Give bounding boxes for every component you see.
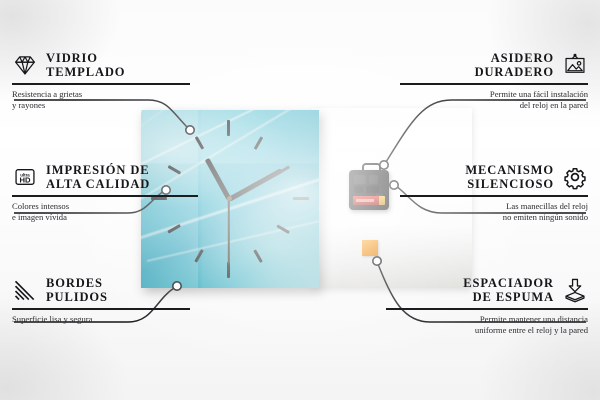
feature-description: Permite una fácil instalación del reloj … xyxy=(400,89,588,111)
feature-title-line-2: ALTA CALIDAD xyxy=(46,177,150,191)
feature-divider xyxy=(400,195,588,197)
feature-title-line-2: TEMPLADO xyxy=(46,65,125,79)
feature-title-line-1: ESPACIADOR xyxy=(463,276,554,290)
feature-header: MECANISMO SILENCIOSO xyxy=(400,163,588,191)
polished-edges-icon xyxy=(12,277,38,303)
feature-asidero-duradero[interactable]: ASIDERO DURADERO Permite una fácil insta… xyxy=(400,51,588,111)
feature-header: ASIDERO DURADERO xyxy=(400,51,588,79)
foam-spacer xyxy=(362,240,378,256)
gear-icon xyxy=(562,164,588,190)
feature-description: Las manecillas del reloj no emiten ningú… xyxy=(400,201,588,223)
feature-title-line-2: SILENCIOSO xyxy=(467,177,554,191)
feature-title-line-1: ASIDERO xyxy=(491,51,554,65)
feature-divider xyxy=(12,83,190,85)
infographic-canvas: VIDRIO TEMPLADO Resistencia a grietas y … xyxy=(0,0,600,400)
feature-divider xyxy=(400,83,588,85)
clock-center-cap xyxy=(227,196,232,201)
feature-title: ASIDERO DURADERO xyxy=(475,51,554,79)
feature-title-line-1: MECANISMO xyxy=(465,163,554,177)
feature-title: VIDRIO TEMPLADO xyxy=(46,51,125,79)
feature-header: BORDES PULIDOS xyxy=(12,276,190,304)
feature-title-line-2: DURADERO xyxy=(475,65,554,79)
feature-title-line-1: VIDRIO xyxy=(46,51,98,65)
hour-tick xyxy=(227,120,230,136)
feature-espaciador-de-espuma[interactable]: ESPACIADOR DE ESPUMA Permite mantener un… xyxy=(386,276,588,336)
feature-title: ESPACIADOR DE ESPUMA xyxy=(463,276,554,304)
feature-title-line-1: IMPRESIÓN DE xyxy=(46,163,150,177)
feature-description: Colores intensos e imagen vívida xyxy=(12,201,198,223)
foam-spacer-icon xyxy=(562,277,588,303)
feature-title: MECANISMO SILENCIOSO xyxy=(465,163,554,191)
second-hand xyxy=(228,199,230,265)
feature-header: ultra HD IMPRESIÓN DE ALTA CALIDAD xyxy=(12,163,198,191)
feature-title-line-2: DE ESPUMA xyxy=(473,290,554,304)
svg-text:HD: HD xyxy=(19,176,31,185)
feature-divider xyxy=(12,308,190,310)
feature-header: VIDRIO TEMPLADO xyxy=(12,51,190,79)
picture-hanger-icon xyxy=(562,52,588,78)
hour-tick xyxy=(293,197,309,200)
diamond-icon xyxy=(12,52,38,78)
feature-vidrio-templado[interactable]: VIDRIO TEMPLADO Resistencia a grietas y … xyxy=(12,51,190,111)
feature-title: BORDES PULIDOS xyxy=(46,276,108,304)
feature-description: Resistencia a grietas y rayones xyxy=(12,89,190,111)
feature-title: IMPRESIÓN DE ALTA CALIDAD xyxy=(46,163,150,191)
feature-bordes-pulidos[interactable]: BORDES PULIDOS Superficie lisa y segura xyxy=(12,276,190,325)
feature-header: ESPACIADOR DE ESPUMA xyxy=(386,276,588,304)
feature-divider xyxy=(12,195,198,197)
feature-mecanismo-silencioso[interactable]: MECANISMO SILENCIOSO Las manecillas del … xyxy=(400,163,588,223)
feature-description: Permite mantener una distancia uniforme … xyxy=(386,314,588,336)
feature-title-line-2: PULIDOS xyxy=(46,290,108,304)
aa-battery xyxy=(353,196,384,205)
feature-divider xyxy=(386,308,588,310)
feature-description: Superficie lisa y segura xyxy=(12,314,190,325)
feature-title-line-1: BORDES xyxy=(46,276,103,290)
feature-impresion-alta-calidad[interactable]: ultra HD IMPRESIÓN DE ALTA CALIDAD Color… xyxy=(12,163,198,223)
ultra-hd-icon: ultra HD xyxy=(12,164,38,190)
